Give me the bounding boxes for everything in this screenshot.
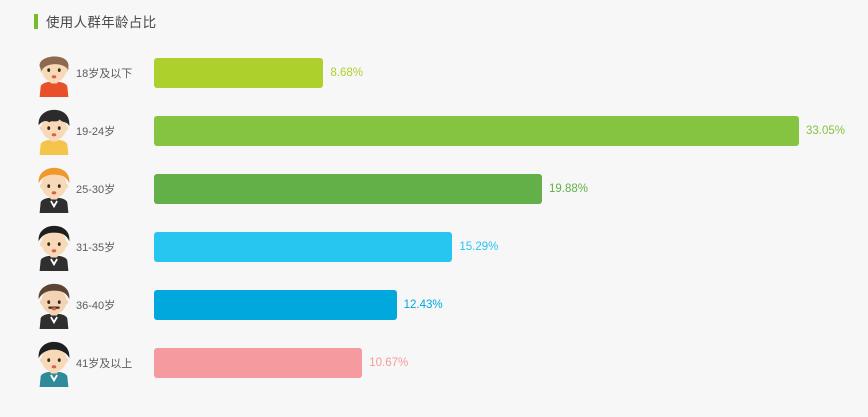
chart-header: 使用人群年龄占比: [34, 12, 156, 30]
category-label: 36-40岁: [76, 297, 115, 313]
bar-track: 8.68%: [154, 58, 868, 88]
bar-track: 10.67%: [154, 348, 868, 378]
avatar-man-black-hair-suit-icon: [31, 222, 77, 272]
bar[interactable]: [154, 174, 542, 204]
avatar-man-orange-hair-suit-icon: [31, 164, 77, 214]
bar-value-label: 19.88%: [549, 183, 588, 195]
bar-track: 12.43%: [154, 290, 868, 320]
bar-row: 36-40岁12.43%: [0, 276, 868, 334]
bar[interactable]: [154, 116, 799, 146]
category-label: 18岁及以下: [76, 65, 132, 81]
category-label: 25-30岁: [76, 181, 115, 197]
bar-row: 41岁及以上10.67%: [0, 334, 868, 392]
bar-track: 33.05%: [154, 116, 868, 146]
avatar-man-teal-shirt-icon: [31, 338, 77, 388]
category-label: 19-24岁: [76, 123, 115, 139]
bar-row: 19-24岁33.05%: [0, 102, 868, 160]
avatar-young-man-yellow-shirt-icon: [31, 106, 77, 156]
bar-rows: 18岁及以下8.68%19-24岁33.05%25-30岁19.88%31-35…: [0, 44, 868, 392]
category-label: 31-35岁: [76, 239, 115, 255]
accent-bar-icon: [34, 14, 38, 29]
bar[interactable]: [154, 232, 452, 262]
bar-row: 31-35岁15.29%: [0, 218, 868, 276]
bar-value-label: 15.29%: [459, 241, 498, 253]
bar-value-label: 33.05%: [806, 125, 845, 137]
bar-value-label: 12.43%: [404, 299, 443, 311]
page-title: 使用人群年龄占比: [46, 11, 156, 31]
avatar-man-mustache-suit-icon: [31, 280, 77, 330]
age-distribution-chart-panel: 使用人群年龄占比 18岁及以下8.68%19-24岁33.05%25-30岁19…: [0, 0, 868, 417]
avatar-boy-orange-shirt-icon: [31, 48, 77, 98]
bar-value-label: 8.68%: [330, 67, 363, 79]
bar-row: 18岁及以下8.68%: [0, 44, 868, 102]
bar[interactable]: [154, 58, 323, 88]
bar-track: 19.88%: [154, 174, 868, 204]
bar[interactable]: [154, 348, 362, 378]
bar-row: 25-30岁19.88%: [0, 160, 868, 218]
bar-track: 15.29%: [154, 232, 868, 262]
category-label: 41岁及以上: [76, 355, 132, 371]
bar[interactable]: [154, 290, 397, 320]
bar-value-label: 10.67%: [369, 357, 408, 369]
